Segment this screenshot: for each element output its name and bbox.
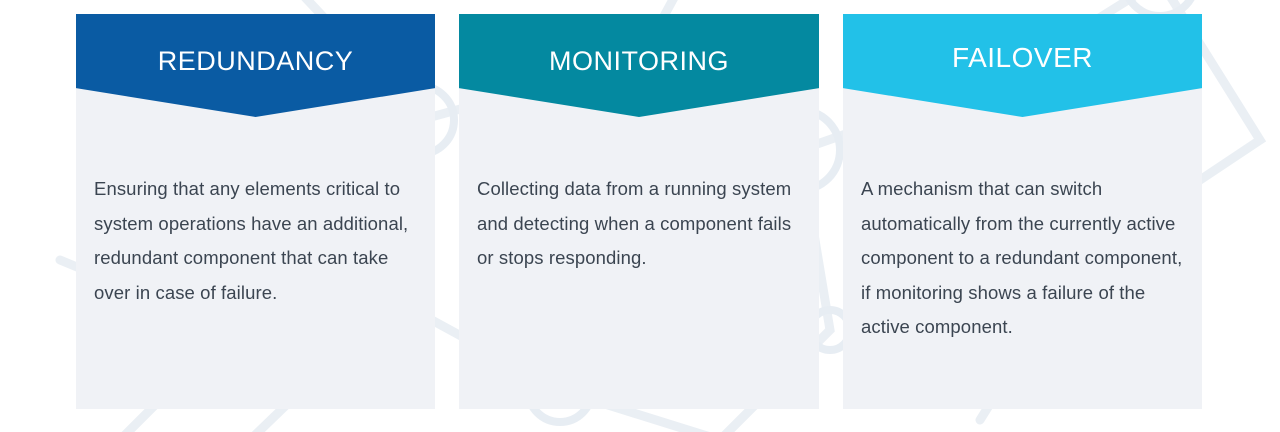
cards-container: REDUNDANCY Ensuring that any elements cr… <box>0 0 1280 432</box>
card-title-failover: FAILOVER <box>952 44 1093 72</box>
card-title-redundancy: REDUNDANCY <box>158 48 354 75</box>
card-description-monitoring: Collecting data from a running system an… <box>477 172 809 276</box>
card-description-failover: A mechanism that can switch automaticall… <box>861 172 1192 345</box>
card-header-failover: FAILOVER <box>843 14 1202 117</box>
card-header-redundancy: REDUNDANCY <box>76 14 435 117</box>
card-redundancy: REDUNDANCY Ensuring that any elements cr… <box>76 14 435 117</box>
card-monitoring: MONITORING Collecting data from a runnin… <box>459 14 819 117</box>
card-title-monitoring: MONITORING <box>549 48 729 75</box>
card-failover: FAILOVER A mechanism that can switch aut… <box>843 14 1202 117</box>
card-header-monitoring: MONITORING <box>459 14 819 117</box>
card-description-redundancy: Ensuring that any elements critical to s… <box>94 172 425 310</box>
